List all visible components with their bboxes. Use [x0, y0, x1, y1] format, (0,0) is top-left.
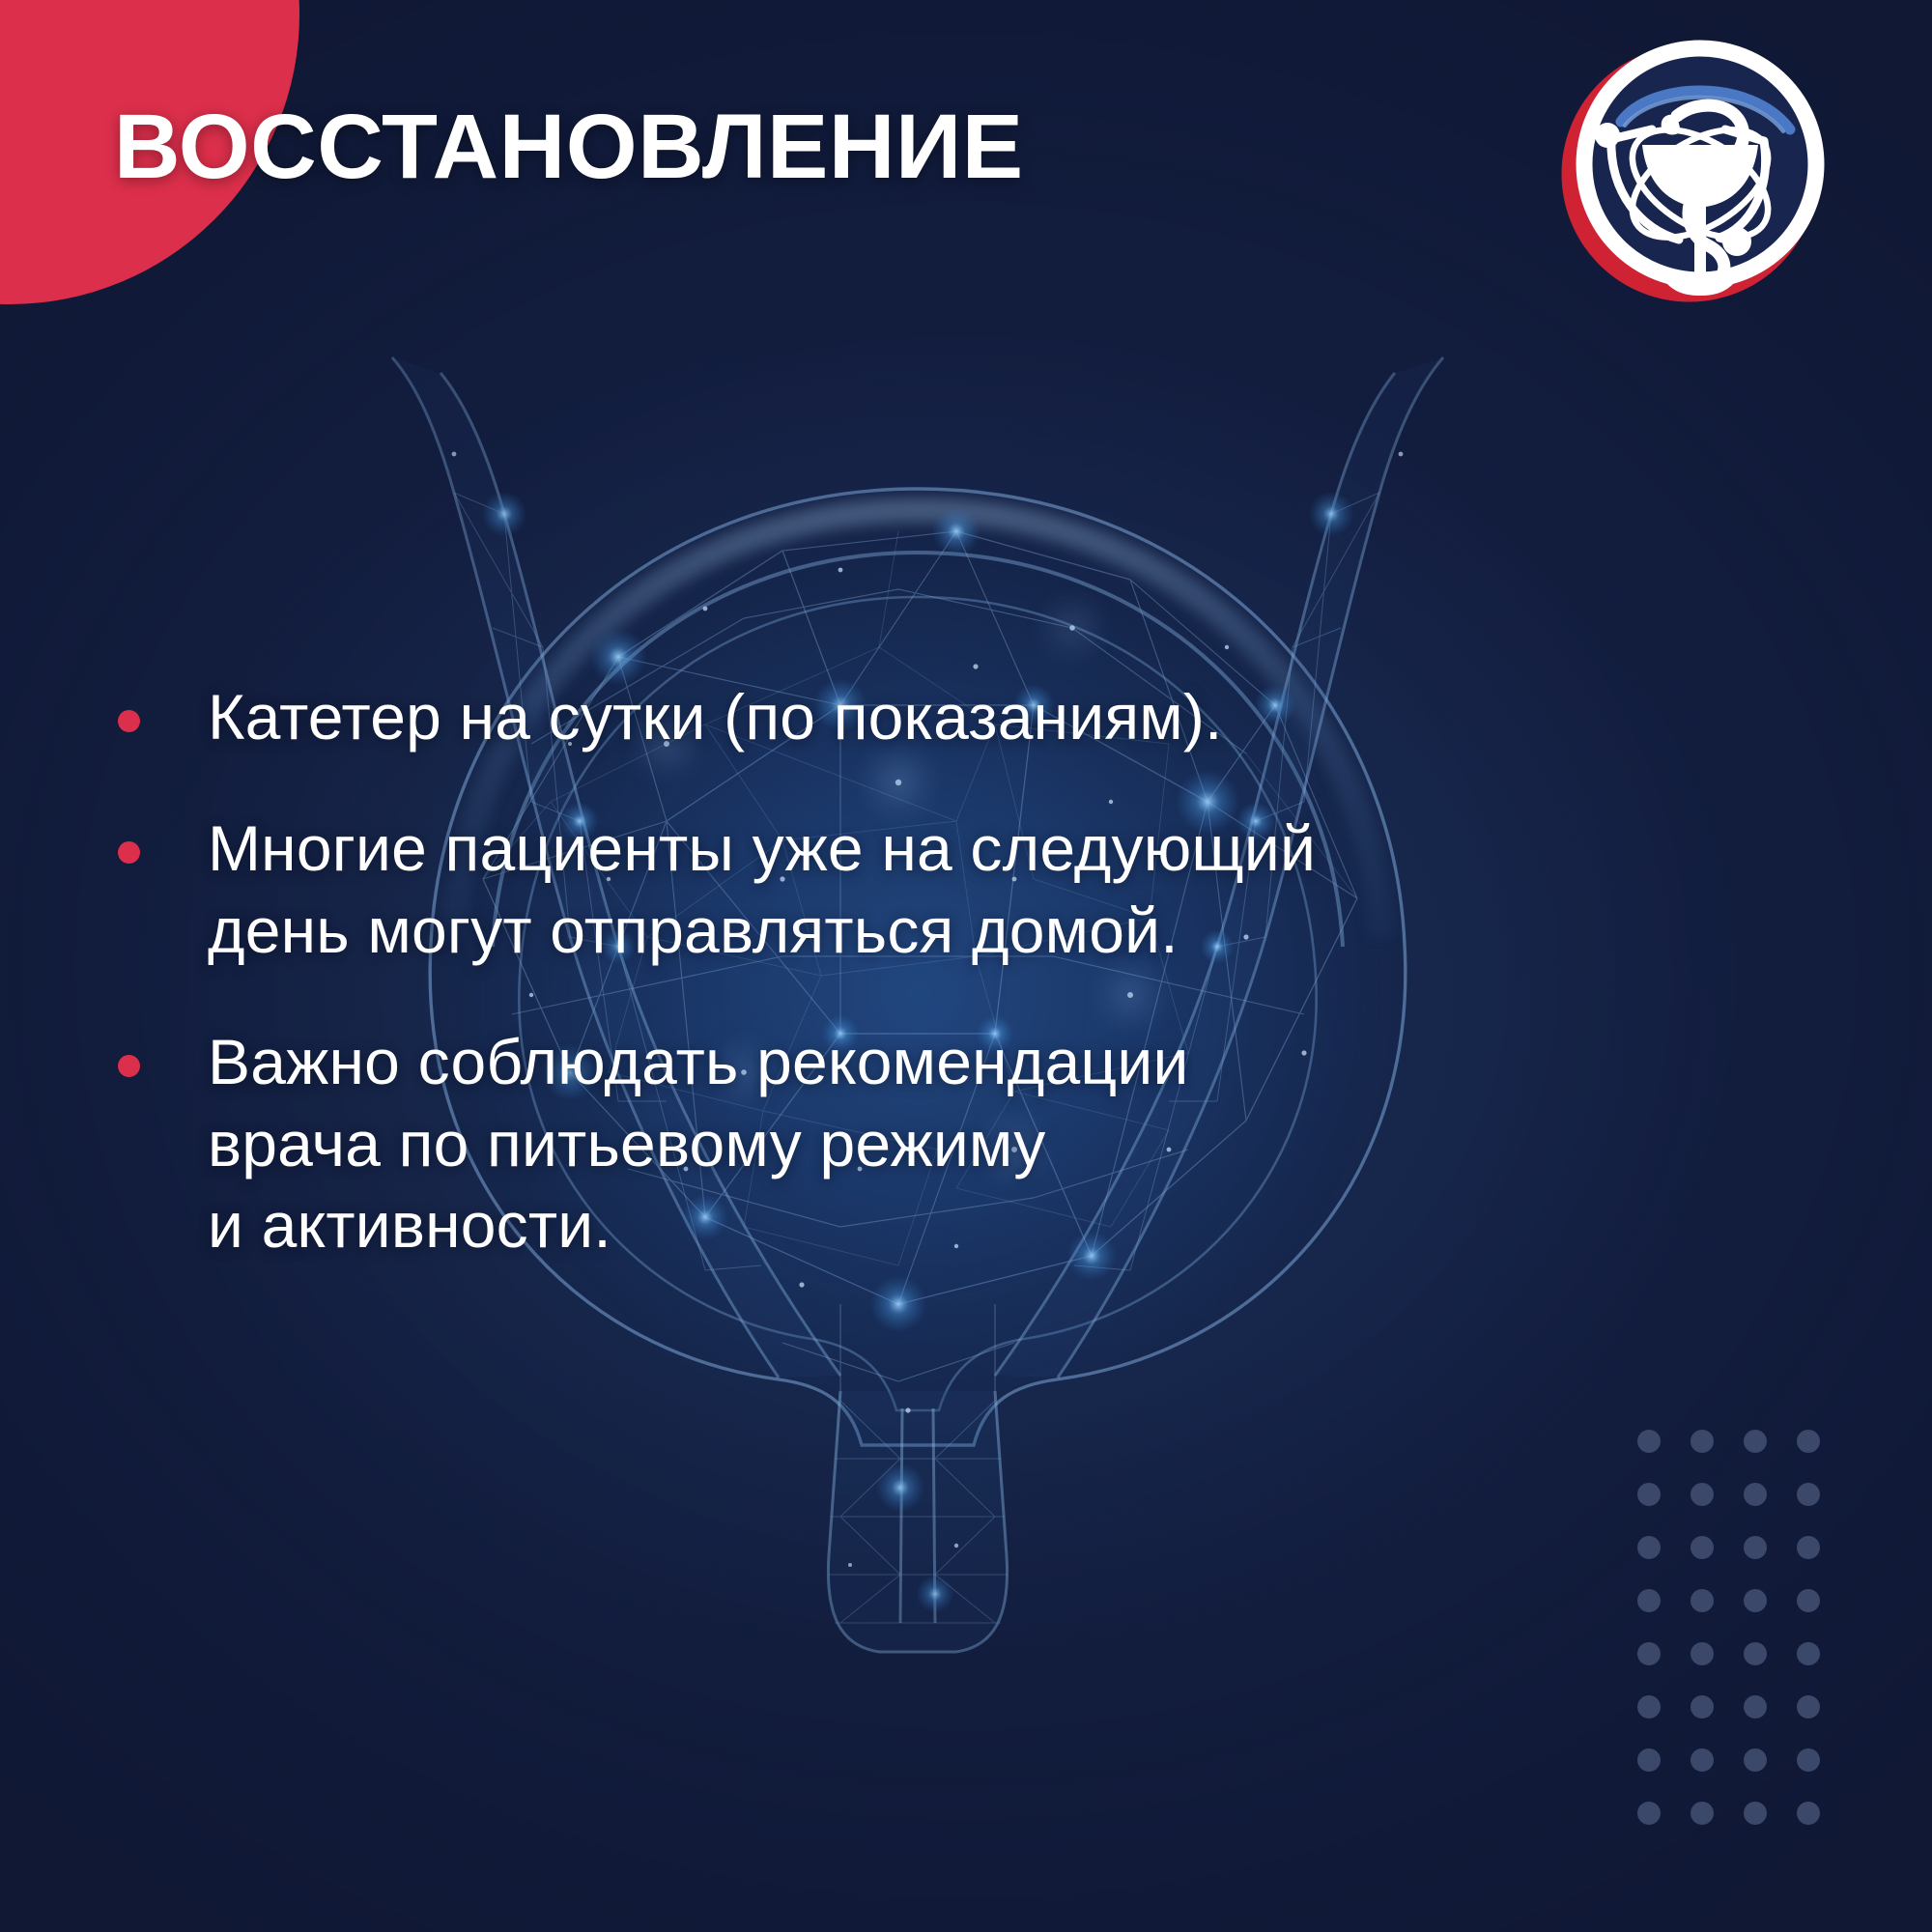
grid-dot	[1637, 1695, 1661, 1719]
grid-dot	[1744, 1695, 1767, 1719]
grid-dot	[1744, 1802, 1767, 1825]
grid-dot	[1797, 1536, 1820, 1559]
bullet-item-recommendations: Важно соблюдать рекомендации врача по пи…	[0, 1021, 1835, 1265]
grid-dot	[1744, 1589, 1767, 1612]
page-title: ВОССТАНОВЛЕНИЕ	[114, 97, 1024, 198]
grid-dot	[1690, 1802, 1714, 1825]
slide-canvas: ВОССТАНОВЛЕНИЕ	[0, 0, 1932, 1932]
grid-dot	[1637, 1536, 1661, 1559]
bullet-text-catheter: Катетер на сутки (по показаниям).	[208, 676, 1715, 757]
bullet-text-recommendations: Важно соблюдать рекомендации врача по пи…	[208, 1021, 1715, 1265]
grid-dot	[1797, 1430, 1820, 1453]
clinic-logo[interactable]	[1553, 21, 1843, 311]
bullet-dot-icon	[118, 710, 140, 732]
bullet-dot-icon	[118, 1055, 140, 1077]
grid-dot	[1797, 1483, 1820, 1506]
grid-dot	[1797, 1802, 1820, 1825]
grid-dot	[1690, 1483, 1714, 1506]
grid-dot	[1744, 1483, 1767, 1506]
bullet-dot-icon	[118, 841, 140, 864]
grid-dot	[1690, 1430, 1714, 1453]
grid-dot	[1690, 1695, 1714, 1719]
grid-dot	[1797, 1695, 1820, 1719]
grid-dot	[1797, 1589, 1820, 1612]
grid-dot	[1690, 1536, 1714, 1559]
grid-dot	[1637, 1748, 1661, 1772]
grid-dot	[1744, 1642, 1767, 1665]
grid-dot	[1797, 1748, 1820, 1772]
bullet-text-discharge: Многие пациенты уже на следующий день мо…	[208, 808, 1715, 971]
grid-dot	[1690, 1589, 1714, 1612]
grid-dot	[1690, 1642, 1714, 1665]
bullet-list: Катетер на сутки (по показаниям). Многие…	[0, 676, 1835, 1317]
grid-dot	[1744, 1430, 1767, 1453]
grid-dot	[1744, 1536, 1767, 1559]
grid-dot	[1637, 1642, 1661, 1665]
grid-dot	[1637, 1430, 1661, 1453]
grid-dot	[1690, 1748, 1714, 1772]
dot-grid-decoration	[1637, 1430, 1850, 1855]
grid-dot	[1744, 1748, 1767, 1772]
bullet-item-catheter: Катетер на сутки (по показаниям).	[0, 676, 1835, 757]
grid-dot	[1797, 1642, 1820, 1665]
grid-dot	[1637, 1589, 1661, 1612]
grid-dot	[1637, 1802, 1661, 1825]
bullet-item-discharge: Многие пациенты уже на следующий день мо…	[0, 808, 1835, 971]
grid-dot	[1637, 1483, 1661, 1506]
